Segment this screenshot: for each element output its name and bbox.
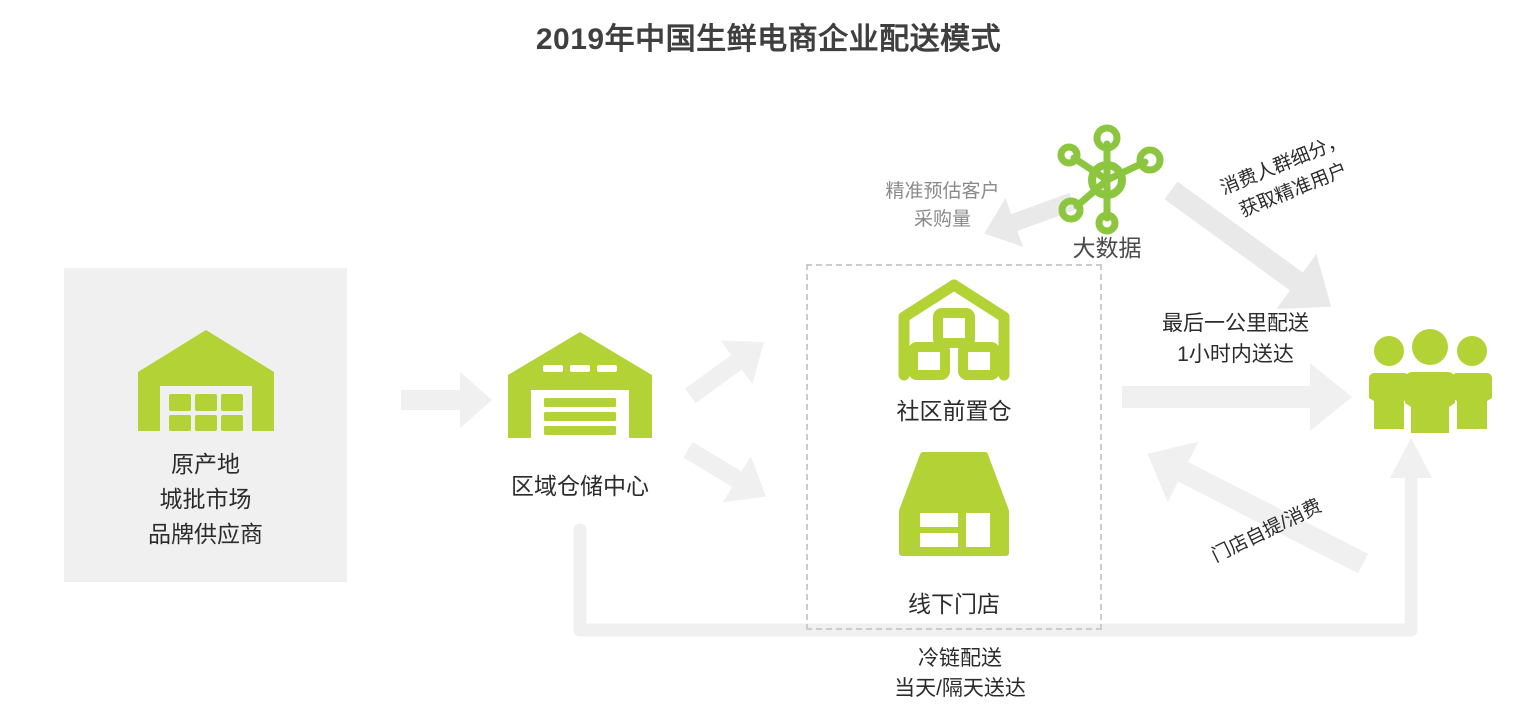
three-people-icon: [1367, 333, 1494, 433]
storefront-icon: [898, 451, 1010, 557]
warehouse-icon: [136, 328, 276, 433]
annotation-cold-chain: 冷链配送 当天/隔天送达: [845, 644, 1075, 704]
page-title: 2019年中国生鲜电商企业配送模式: [0, 14, 1537, 58]
diagram-canvas: 2019年中国生鲜电商企业配送模式: [0, 0, 1537, 726]
offline-store-label: 线下门店: [806, 585, 1102, 619]
source-label-line-3: 品牌供应商: [64, 517, 347, 552]
annotation-forecast: 精准预估客户 采购量: [860, 178, 1025, 234]
big-data-label: 大数据: [1022, 229, 1192, 263]
flow-consumers-to-store-arrow: [1132, 423, 1378, 593]
annotation-last-mile: 最后一公里配送 1小时内送达: [1128, 308, 1343, 370]
regional-warehouse-label: 区域仓储中心: [455, 467, 705, 501]
annotation-cold-chain-line-2: 当天/隔天送达: [845, 674, 1075, 704]
source-label: 原产地 城批市场 品牌供应商: [64, 447, 347, 552]
flow-source-to-rdc-arrow: [401, 372, 492, 428]
annotation-store-pickup: 门店自提/消费: [1179, 478, 1353, 581]
annotation-segmentation: 消费人群细分， 获取精准用户: [1192, 117, 1385, 238]
barn-outline-icon: [899, 281, 1009, 379]
flow-front-warehouse-to-consumers-arrow: [1122, 363, 1352, 431]
annotation-cold-chain-line-1: 冷链配送: [845, 644, 1075, 674]
warehouse-dock-icon: [505, 330, 655, 440]
network-nodes-icon: [1052, 126, 1162, 234]
annotation-last-mile-line-2: 1小时内送达: [1128, 339, 1343, 370]
annotation-last-mile-line-1: 最后一公里配送: [1128, 308, 1343, 339]
source-label-line-2: 城批市场: [64, 482, 347, 517]
flow-rdc-to-front-warehouse-arrow: [674, 320, 779, 417]
source-label-line-1: 原产地: [64, 447, 347, 482]
annotation-forecast-line-2: 采购量: [860, 206, 1025, 234]
annotation-forecast-line-1: 精准预估客户: [860, 178, 1025, 206]
front-warehouse-label: 社区前置仓: [806, 392, 1102, 426]
